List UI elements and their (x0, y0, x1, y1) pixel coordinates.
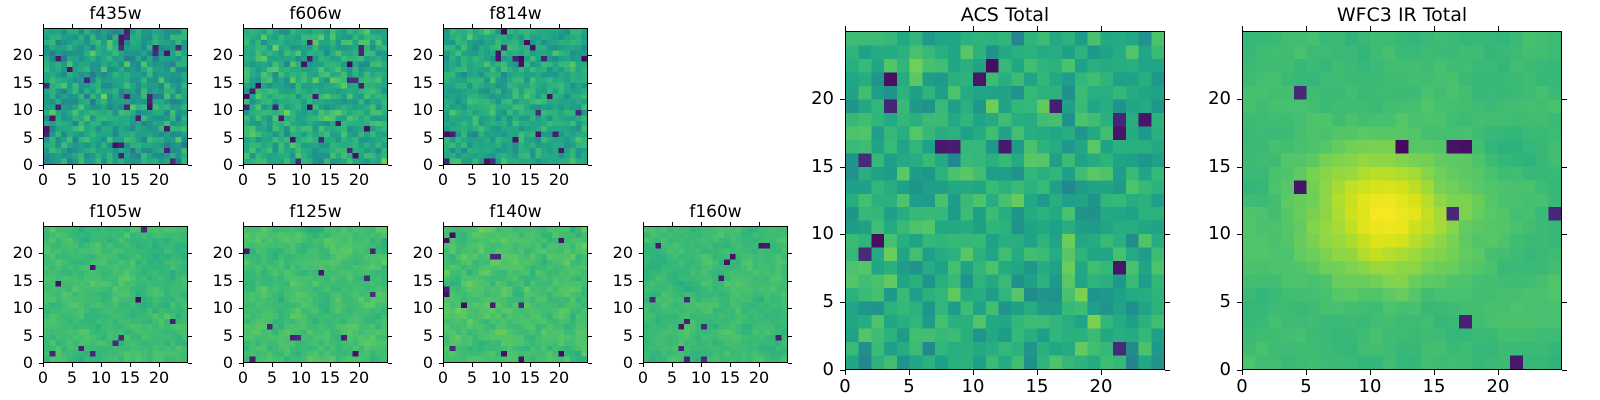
y-tick-wfc3-ir-total-20 (1237, 99, 1242, 100)
y-tick-wfc3-ir-total-5 (1237, 302, 1242, 303)
x-tick-label-wfc3-ir-total-10: 10 (1359, 378, 1382, 396)
y-tick-label-wfc3-ir-total-10: 10 (1191, 225, 1231, 243)
y-tick-right-wfc3-ir-total-0 (1562, 370, 1567, 371)
x-tick-top-wfc3-ir-total-15 (1434, 26, 1435, 31)
x-tick-top-wfc3-ir-total-0 (1242, 26, 1243, 31)
x-tick-wfc3-ir-total-15 (1434, 370, 1435, 375)
y-tick-label-wfc3-ir-total-0: 0 (1191, 361, 1231, 379)
x-tick-label-wfc3-ir-total-20: 20 (1487, 378, 1510, 396)
heatmap-wfc3-ir-total (1243, 32, 1561, 369)
y-tick-wfc3-ir-total-10 (1237, 234, 1242, 235)
x-tick-wfc3-ir-total-10 (1370, 370, 1371, 375)
y-tick-right-wfc3-ir-total-10 (1562, 234, 1567, 235)
y-tick-label-wfc3-ir-total-15: 15 (1191, 158, 1231, 176)
y-tick-label-wfc3-ir-total-20: 20 (1191, 90, 1231, 108)
x-tick-top-wfc3-ir-total-5 (1306, 26, 1307, 31)
x-tick-wfc3-ir-total-20 (1498, 370, 1499, 375)
y-tick-label-wfc3-ir-total-5: 5 (1191, 293, 1231, 311)
x-tick-wfc3-ir-total-0 (1242, 370, 1243, 375)
x-tick-top-wfc3-ir-total-20 (1498, 26, 1499, 31)
y-tick-wfc3-ir-total-15 (1237, 167, 1242, 168)
y-tick-right-wfc3-ir-total-5 (1562, 302, 1567, 303)
plot-area-wfc3-ir-total (1242, 31, 1562, 370)
y-tick-right-wfc3-ir-total-15 (1562, 167, 1567, 168)
x-tick-label-wfc3-ir-total-0: 0 (1236, 378, 1247, 396)
panel-wfc3-ir-total: WFC3 IR Total0510152005101520 (0, 0, 1600, 400)
y-tick-wfc3-ir-total-0 (1237, 370, 1242, 371)
x-tick-label-wfc3-ir-total-5: 5 (1300, 378, 1311, 396)
panel-title-wfc3-ir-total: WFC3 IR Total (1242, 6, 1562, 25)
x-tick-top-wfc3-ir-total-10 (1370, 26, 1371, 31)
x-tick-label-wfc3-ir-total-15: 15 (1423, 378, 1446, 396)
y-tick-right-wfc3-ir-total-20 (1562, 99, 1567, 100)
x-tick-wfc3-ir-total-5 (1306, 370, 1307, 375)
